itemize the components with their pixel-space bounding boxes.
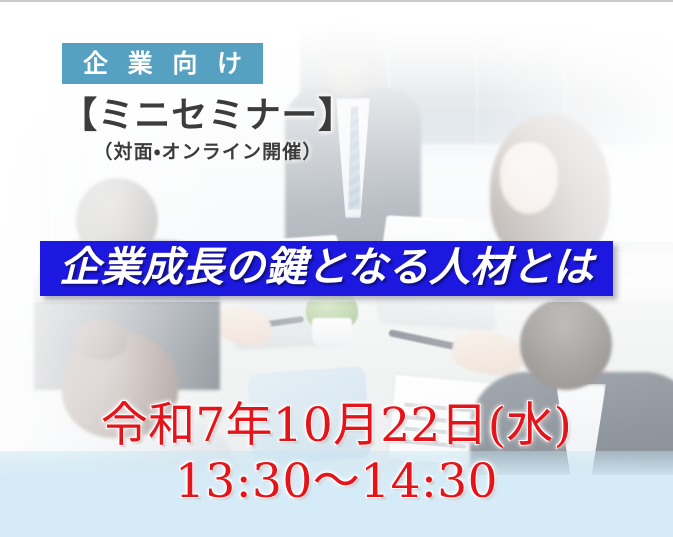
- main-title-text: 企業成長の鍵となる人材とは: [59, 247, 593, 288]
- main-title-band: 企業成長の鍵となる人材とは: [40, 241, 613, 296]
- event-date: 令和7年10月22日(水): [0, 402, 673, 450]
- audience-label: 企 業 向 け: [62, 43, 263, 84]
- seminar-type-headline: 【ミニセミナー】: [58, 97, 358, 136]
- text-layer: 企 業 向 け 【ミニセミナー】 （対面・オンライン開催） 企業成長の鍵となる人…: [0, 2, 673, 537]
- seminar-banner: 企 業 向 け 【ミニセミナー】 （対面・オンライン開催） 企業成長の鍵となる人…: [0, 0, 673, 537]
- event-time: 13:30〜14:30: [0, 458, 673, 506]
- seminar-format-subline: （対面・オンライン開催）: [58, 142, 358, 164]
